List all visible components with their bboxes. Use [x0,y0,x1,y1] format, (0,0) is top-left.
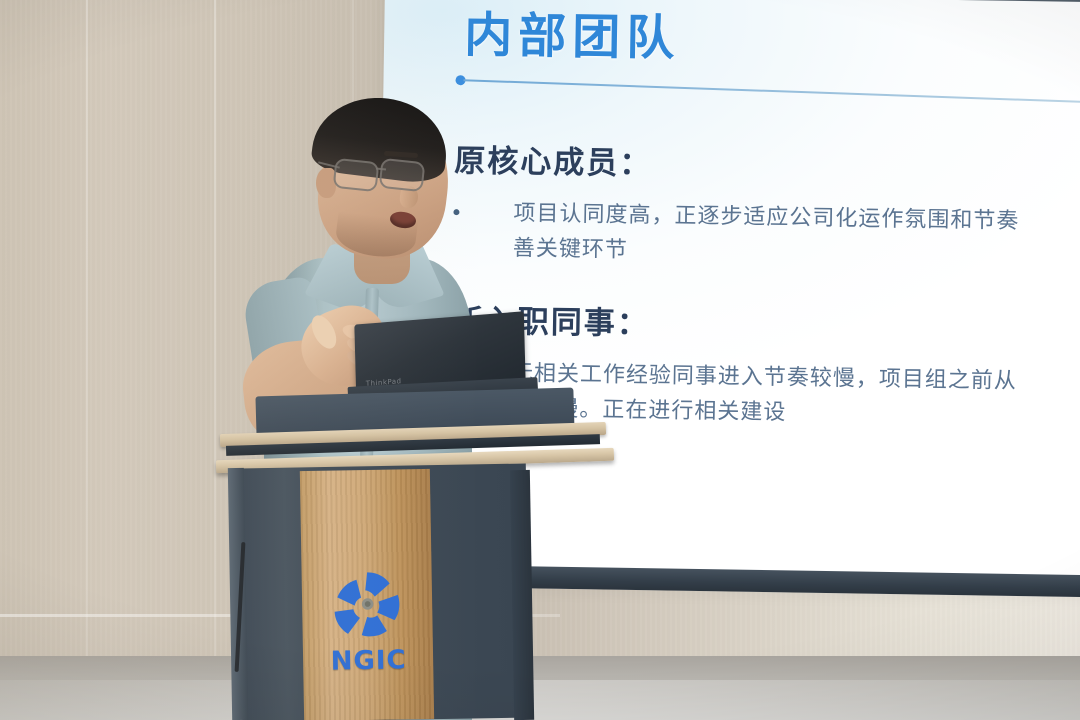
podium-right-edge [510,470,534,720]
bullet-item: 项目认同度高，正逐步适应公司化运作氛围和节奏 善关键环节 [453,195,1080,281]
slide-title: 内部团队 [464,0,681,69]
speaker-ear [316,168,336,198]
aperture-shutter-icon [331,567,404,640]
title-underline-rule [456,79,1080,89]
presentation-scene: 内部团队 原核心成员： 项目认同度高，正逐步适应公司化运作氛围和节奏 善关键环节… [0,0,1080,720]
podium: NGIC [212,392,612,720]
podium-brand-text: NGIC [330,645,407,676]
wall-seam [86,0,88,720]
glasses-lens-left [333,158,380,192]
podium-brand-logo: NGIC [329,567,407,678]
bullet-text: 项目认同度高，正逐步适应公司化运作氛围和节奏 善关键环节 [513,196,1080,281]
glasses-lens-right [379,158,426,192]
title-rule-line [464,79,1080,103]
